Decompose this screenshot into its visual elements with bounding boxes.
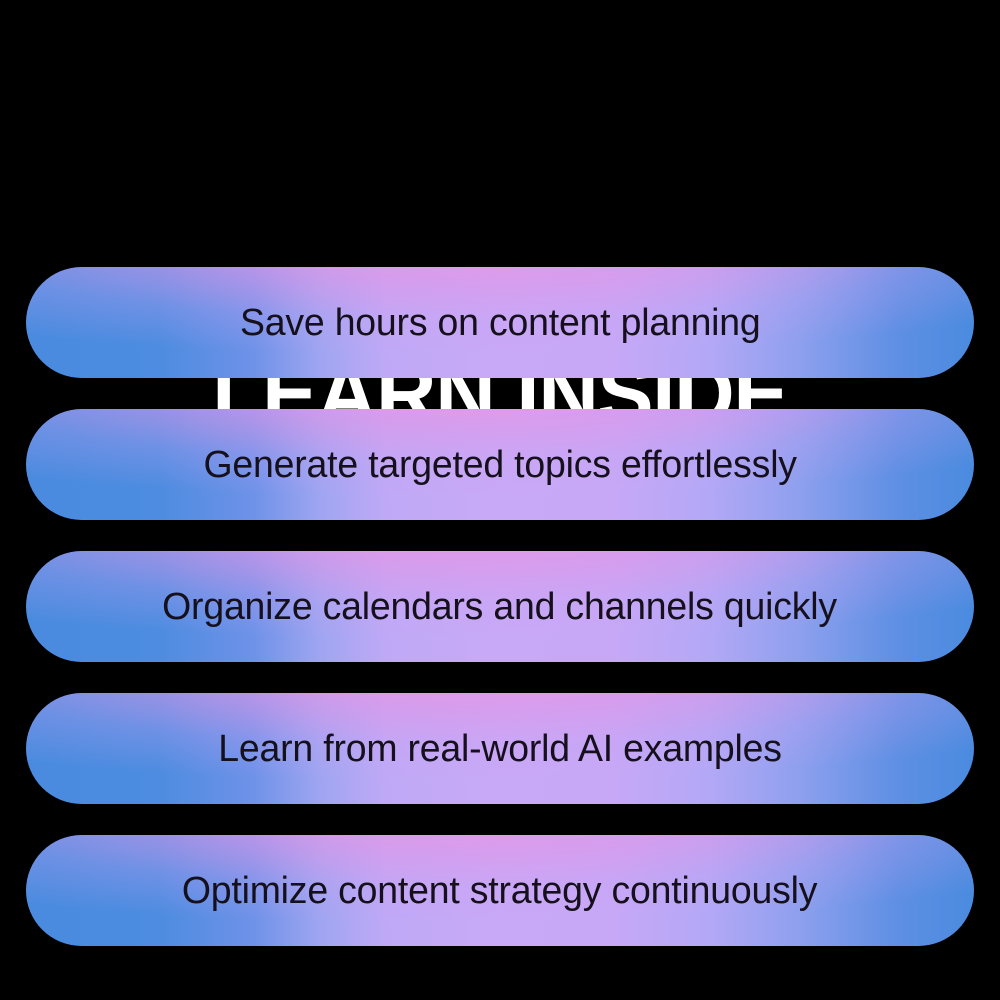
- benefit-label-5: Optimize content strategy continuously: [182, 872, 817, 910]
- benefit-label-1: Save hours on content planning: [240, 304, 761, 342]
- benefit-label-3: Organize calendars and channels quickly: [163, 588, 838, 626]
- benefit-list: Save hours on content planning Generate …: [26, 267, 974, 946]
- list-item[interactable]: Optimize content strategy continuously: [26, 835, 974, 946]
- list-item[interactable]: Organize calendars and channels quickly: [26, 551, 974, 662]
- slide-canvas: WHAT YOU’LLLEARN INSIDE Save hours on co…: [0, 0, 1000, 1000]
- benefit-label-2: Generate targeted topics effortlessly: [203, 446, 796, 484]
- list-item[interactable]: Learn from real-world AI examples: [26, 693, 974, 804]
- benefit-label-4: Learn from real-world AI examples: [218, 730, 782, 768]
- list-item[interactable]: Save hours on content planning: [26, 267, 974, 378]
- list-item[interactable]: Generate targeted topics effortlessly: [26, 409, 974, 520]
